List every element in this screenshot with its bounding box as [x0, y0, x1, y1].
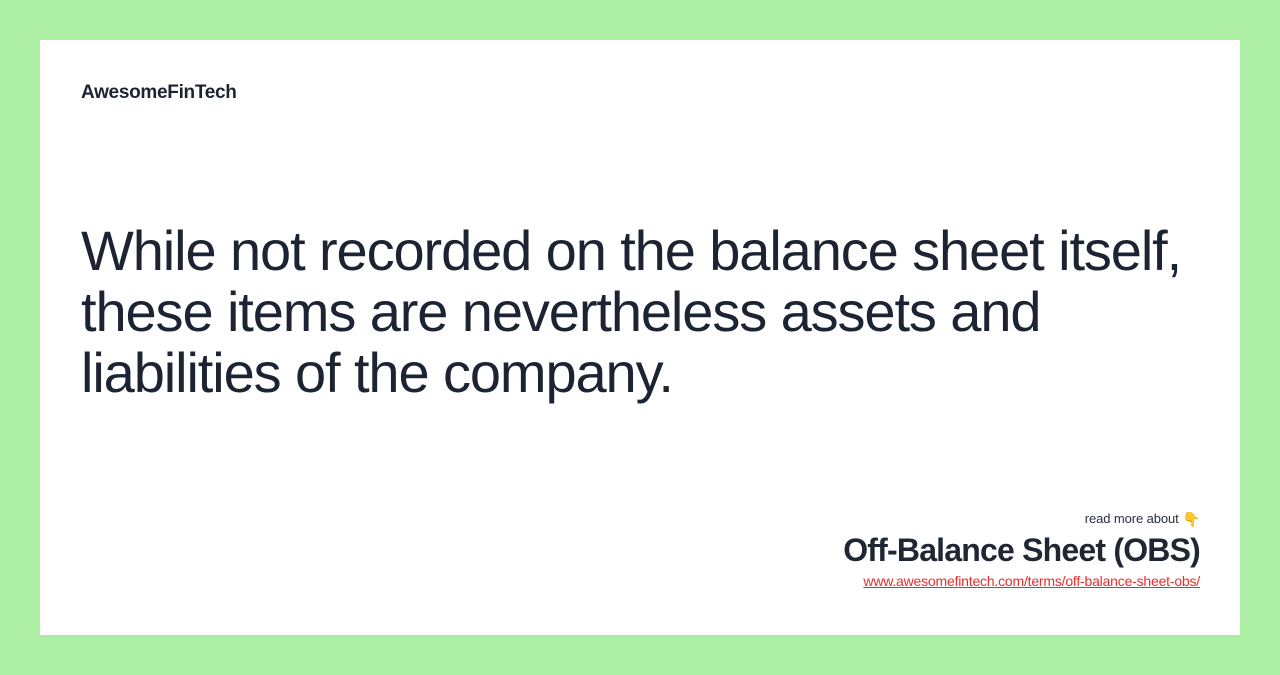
read-more-label: read more about: [1085, 511, 1179, 526]
read-more-row: read more about👇: [500, 510, 1200, 528]
quote-text: While not recorded on the balance sheet …: [81, 220, 1201, 403]
pointing-down-icon: 👇: [1183, 511, 1200, 528]
screenshot-root: AwesomeFinTech While not recorded on the…: [0, 0, 1280, 675]
quote-card: AwesomeFinTech While not recorded on the…: [40, 40, 1240, 635]
brand-logo: AwesomeFinTech: [81, 82, 237, 104]
term-title: Off-Balance Sheet (OBS): [500, 531, 1200, 569]
term-footer: read more about👇 Off-Balance Sheet (OBS)…: [500, 510, 1200, 591]
term-url-link[interactable]: www.awesomefintech.com/terms/off-balance…: [863, 572, 1200, 590]
